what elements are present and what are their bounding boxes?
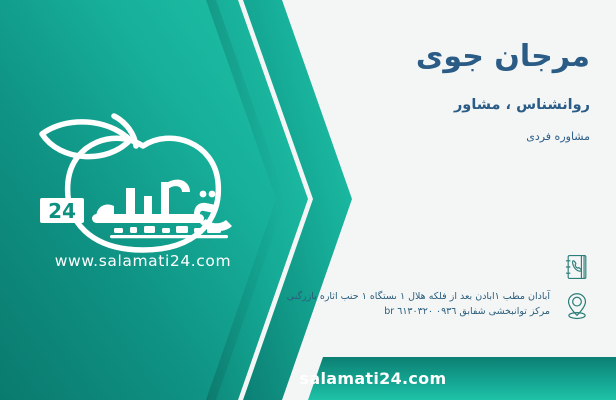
person-info-block: مرجان جوی روانشناس ، مشاور مشاوره فردی bbox=[260, 38, 590, 145]
contact-row-phone bbox=[254, 250, 594, 284]
logo-website-url: www.salamati24.com bbox=[18, 252, 268, 270]
address-text: آبادان مطب ١ابادن بعد از فلکه هلال ١ ىست… bbox=[254, 290, 550, 319]
person-name: مرجان جوی bbox=[260, 38, 590, 76]
map-pin-icon bbox=[560, 288, 594, 322]
person-service: مشاوره فردی bbox=[260, 130, 590, 144]
business-card: 24 www.salamati24.com مرجان جوی روانشناس… bbox=[0, 0, 616, 400]
phone-book-icon bbox=[560, 250, 594, 284]
brand-logo: 24 www.salamati24.com bbox=[18, 110, 268, 290]
address-line-1: آبادان مطب ١ابادن بعد از فلکه هلال ١ ىست… bbox=[260, 290, 550, 305]
logo-badge-24: 24 bbox=[40, 198, 84, 223]
footer-website[interactable]: salamati24.com bbox=[0, 369, 616, 388]
contact-block: آبادان مطب ١ابادن بعد از فلکه هلال ١ ىست… bbox=[254, 250, 594, 326]
svg-text:24: 24 bbox=[48, 199, 76, 223]
logo-tagline bbox=[110, 226, 228, 238]
contact-row-address: آبادان مطب ١ابادن بعد از فلکه هلال ١ ىست… bbox=[254, 288, 594, 322]
person-role: روانشناس ، مشاور bbox=[260, 96, 590, 115]
logo-wordmark bbox=[92, 180, 232, 231]
apple-logo-mark: 24 bbox=[18, 110, 268, 255]
address-line-2: مرکز توانبخشی شفابق ٠٩٣٦ ٦١٣٠٣٢٠ br bbox=[260, 305, 550, 320]
